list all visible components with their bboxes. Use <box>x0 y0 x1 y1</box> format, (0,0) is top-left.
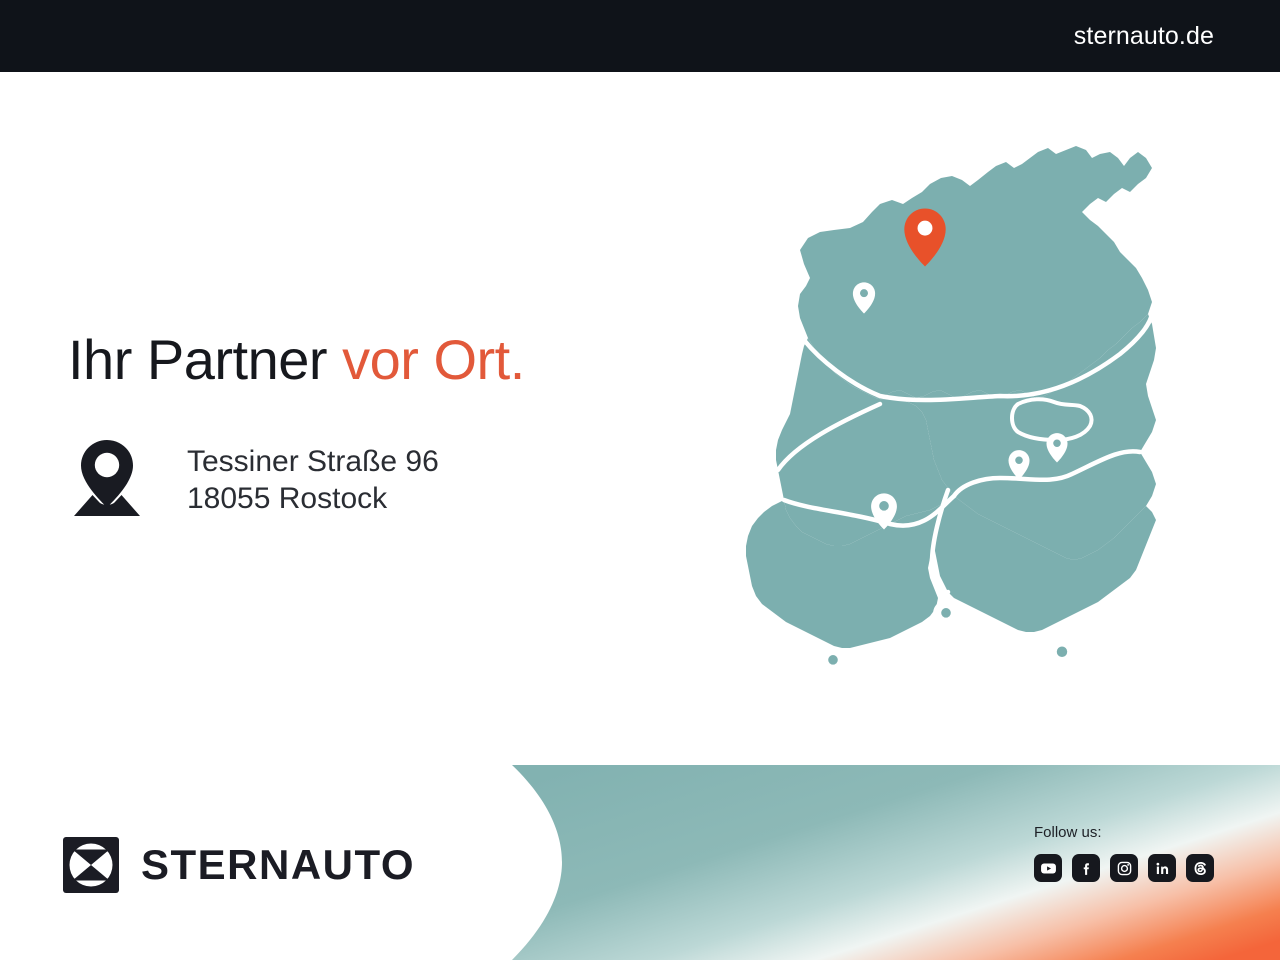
youtube-icon <box>1040 860 1057 877</box>
instagram-icon <box>1116 860 1133 877</box>
brand-logo: STERNAUTO <box>63 837 415 893</box>
social-links <box>1034 854 1214 882</box>
threads-icon <box>1192 860 1209 877</box>
address-line-2: 18055 Rostock <box>187 480 439 517</box>
address-text: Tessiner Straße 96 18055 Rostock <box>187 443 439 517</box>
social-link-linkedin[interactable] <box>1148 854 1176 882</box>
dealer-map <box>700 92 1220 752</box>
map-pin-erfurt[interactable] <box>820 647 846 683</box>
map-pin-leipzig[interactable] <box>933 600 959 636</box>
top-bar: sternauto.de <box>0 0 1280 72</box>
headline-accent: vor Ort. <box>342 328 525 391</box>
follow-us-label: Follow us: <box>1034 824 1214 841</box>
headline-primary: Ihr Partner <box>68 328 327 391</box>
social-link-instagram[interactable] <box>1110 854 1138 882</box>
address-block: Tessiner Straße 96 18055 Rostock <box>70 437 439 517</box>
page-title: Ihr Partner vor Ort. <box>68 327 525 392</box>
linkedin-icon <box>1154 860 1171 877</box>
location-pin-icon <box>70 439 144 517</box>
social-link-youtube[interactable] <box>1034 854 1062 882</box>
map-pin-dresden[interactable] <box>1049 639 1076 677</box>
social-link-facebook[interactable] <box>1072 854 1100 882</box>
address-line-1: Tessiner Straße 96 <box>187 443 439 480</box>
follow-us-block: Follow us: <box>1034 824 1214 882</box>
social-link-threads[interactable] <box>1186 854 1214 882</box>
site-url: sternauto.de <box>1074 22 1214 51</box>
sternauto-logo-icon <box>63 837 119 893</box>
facebook-icon <box>1078 860 1095 877</box>
slide-body: Ihr Partner vor Ort. Tessiner Straße 96 … <box>0 72 1280 960</box>
brand-name: STERNAUTO <box>141 841 415 889</box>
